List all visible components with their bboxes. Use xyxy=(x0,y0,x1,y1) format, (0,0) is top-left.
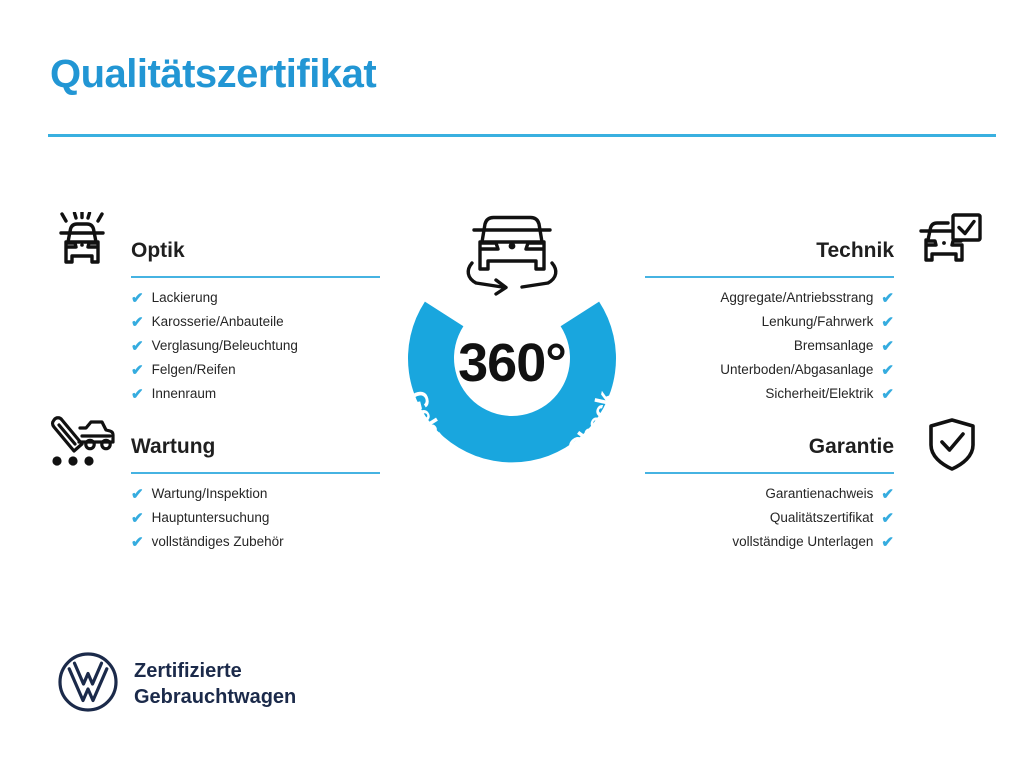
car-rotate-icon xyxy=(468,218,556,295)
section-garantie: Garantie Garantienachweis✔ Qualitätszert… xyxy=(645,434,894,554)
shield-check-icon xyxy=(916,414,988,478)
list-item-label: vollständige Unterlagen xyxy=(732,530,873,554)
list-item-label: Bremsanlage xyxy=(794,334,874,358)
section-garantie-list: Garantienachweis✔ Qualitätszertifikat✔ v… xyxy=(645,482,894,554)
list-item-label: Lackierung xyxy=(152,286,218,310)
car-front-lights-icon xyxy=(46,212,118,276)
list-item-label: Sicherheit/Elektrik xyxy=(765,382,873,406)
section-garantie-divider xyxy=(645,472,894,474)
list-item: Unterboden/Abgasanlage✔ xyxy=(645,358,894,382)
list-item-label: vollständiges Zubehör xyxy=(152,530,284,554)
list-item: ✔Hauptuntersuchung xyxy=(131,506,380,530)
section-optik-divider xyxy=(131,276,380,278)
page-title: Qualitätszertifikat xyxy=(50,52,376,96)
check-icon: ✔ xyxy=(131,315,144,330)
list-item: ✔vollständiges Zubehör xyxy=(131,530,380,554)
section-wartung-title: Wartung xyxy=(131,434,380,460)
check-icon: ✔ xyxy=(131,535,144,550)
check-icon: ✔ xyxy=(131,363,144,378)
section-technik-list: Aggregate/Antriebsstrang✔ Lenkung/Fahrwe… xyxy=(645,286,894,406)
car-checkbox-icon xyxy=(912,212,984,276)
section-optik-header: Optik xyxy=(131,238,380,278)
list-item: Aggregate/Antriebsstrang✔ xyxy=(645,286,894,310)
list-item-label: Aggregate/Antriebsstrang xyxy=(720,286,873,310)
section-wartung-header: Wartung xyxy=(131,434,380,474)
section-technik-title: Technik xyxy=(645,238,894,264)
section-garantie-title: Garantie xyxy=(645,434,894,460)
list-item-label: Garantienachweis xyxy=(765,482,873,506)
certificate-page: Qualitätszertifikat Optik ✔Lackierung ✔K… xyxy=(0,0,1024,768)
check-icon: ✔ xyxy=(131,487,144,502)
section-technik-header: Technik xyxy=(645,238,894,278)
check-icon: ✔ xyxy=(881,339,894,354)
list-item: Qualitätszertifikat✔ xyxy=(645,506,894,530)
check-icon: ✔ xyxy=(881,535,894,550)
list-item: Garantienachweis✔ xyxy=(645,482,894,506)
check-icon: ✔ xyxy=(881,315,894,330)
list-item-label: Innenraum xyxy=(152,382,217,406)
list-item: Bremsanlage✔ xyxy=(645,334,894,358)
list-item-label: Wartung/Inspektion xyxy=(152,482,268,506)
section-optik: Optik ✔Lackierung ✔Karosserie/Anbauteile… xyxy=(131,238,380,406)
check-icon: ✔ xyxy=(881,487,894,502)
check-icon: ✔ xyxy=(131,511,144,526)
section-garantie-header: Garantie xyxy=(645,434,894,474)
badge-number: 360° xyxy=(374,332,650,394)
list-item-label: Unterboden/Abgasanlage xyxy=(720,358,873,382)
check-icon: ✔ xyxy=(881,291,894,306)
section-wartung-divider xyxy=(131,472,380,474)
list-item: ✔Karosserie/Anbauteile xyxy=(131,310,380,334)
wrench-car-service-icon xyxy=(46,414,118,478)
gebrauchtwagen-check-badge: Gebrauchtwagen-Check 360° xyxy=(374,190,650,490)
list-item-label: Qualitätszertifikat xyxy=(770,506,874,530)
section-optik-list: ✔Lackierung ✔Karosserie/Anbauteile ✔Verg… xyxy=(131,286,380,406)
check-icon: ✔ xyxy=(131,387,144,402)
vw-logo xyxy=(56,650,120,714)
check-icon: ✔ xyxy=(881,511,894,526)
check-icon: ✔ xyxy=(881,387,894,402)
check-icon: ✔ xyxy=(131,339,144,354)
list-item-label: Verglasung/Beleuchtung xyxy=(152,334,298,358)
check-icon: ✔ xyxy=(881,363,894,378)
list-item: Lenkung/Fahrwerk✔ xyxy=(645,310,894,334)
title-divider xyxy=(48,134,996,137)
section-technik-divider xyxy=(645,276,894,278)
list-item: ✔Innenraum xyxy=(131,382,380,406)
check-icon: ✔ xyxy=(131,291,144,306)
section-technik: Technik Aggregate/Antriebsstrang✔ Lenkun… xyxy=(645,238,894,406)
vw-wordmark-line1: Zertifizierte xyxy=(134,660,242,682)
list-item: ✔Wartung/Inspektion xyxy=(131,482,380,506)
section-optik-title: Optik xyxy=(131,238,380,264)
list-item: ✔Lackierung xyxy=(131,286,380,310)
list-item-label: Hauptuntersuchung xyxy=(152,506,270,530)
list-item: ✔Felgen/Reifen xyxy=(131,358,380,382)
list-item-label: Felgen/Reifen xyxy=(152,358,236,382)
vw-wordmark-line2: Gebrauchtwagen xyxy=(134,684,296,710)
section-wartung: Wartung ✔Wartung/Inspektion ✔Hauptunters… xyxy=(131,434,380,554)
list-item: ✔Verglasung/Beleuchtung xyxy=(131,334,380,358)
list-item-label: Lenkung/Fahrwerk xyxy=(762,310,874,334)
section-wartung-list: ✔Wartung/Inspektion ✔Hauptuntersuchung ✔… xyxy=(131,482,380,554)
list-item-label: Karosserie/Anbauteile xyxy=(152,310,284,334)
list-item: vollständige Unterlagen✔ xyxy=(645,530,894,554)
list-item: Sicherheit/Elektrik✔ xyxy=(645,382,894,406)
vw-wordmark: Zertifizierte Gebrauchtwagen xyxy=(134,658,296,710)
